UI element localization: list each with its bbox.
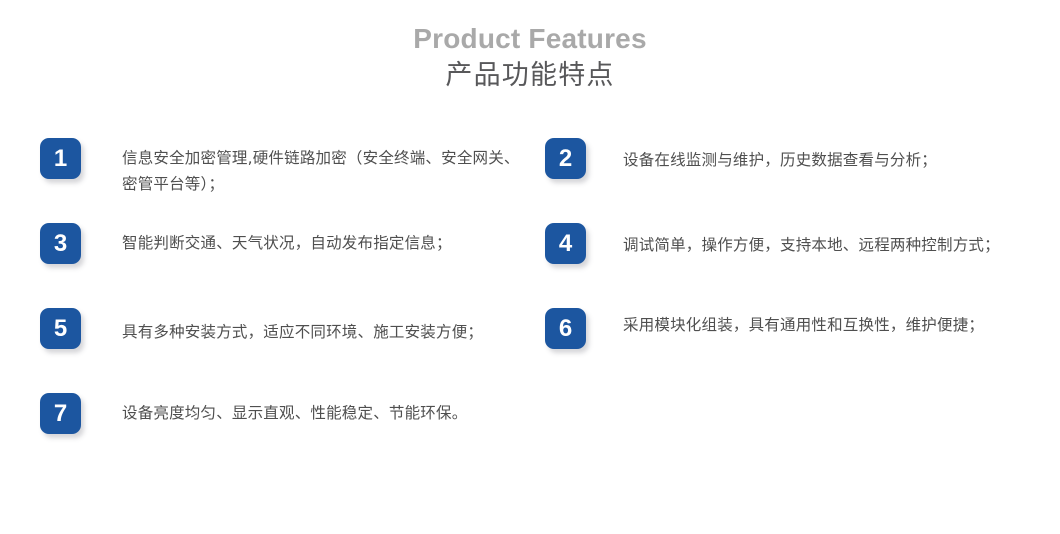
feature-text-2: 设备在线监测与维护，历史数据查看与分析； (623, 138, 1035, 173)
feature-text-7: 设备亮度均匀、显示直观、性能稳定、节能环保。 (122, 393, 520, 426)
page-title-chinese: 产品功能特点 (0, 57, 1060, 93)
feature-number-badge-2: 2 (545, 138, 586, 179)
feature-item-2: 2 设备在线监测与维护，历史数据查看与分析； (545, 138, 1035, 179)
feature-number-badge-6: 6 (545, 308, 586, 349)
feature-number-badge-4: 4 (545, 223, 586, 264)
feature-number-badge-1: 1 (40, 138, 81, 179)
feature-item-7: 7 设备亮度均匀、显示直观、性能稳定、节能环保。 (40, 393, 520, 434)
feature-number-badge-5: 5 (40, 308, 81, 349)
slide-canvas: Product Features 产品功能特点 1 信息安全加密管理,硬件链路加… (0, 0, 1060, 534)
page-title: Product Features 产品功能特点 (0, 22, 1060, 93)
feature-item-4: 4 调试简单，操作方便，支持本地、远程两种控制方式； (545, 223, 1035, 264)
feature-text-1: 信息安全加密管理,硬件链路加密（安全终端、安全网关、密管平台等）； (122, 138, 520, 197)
feature-number-badge-7: 7 (40, 393, 81, 434)
feature-item-3: 3 智能判断交通、天气状况，自动发布指定信息； (40, 223, 520, 264)
feature-text-6: 采用模块化组装，具有通用性和互换性，维护便捷； (623, 308, 1035, 338)
feature-text-3: 智能判断交通、天气状况，自动发布指定信息； (122, 223, 520, 256)
feature-text-5: 具有多种安装方式，适应不同环境、施工安装方便； (122, 308, 520, 345)
page-title-english: Product Features (0, 22, 1060, 56)
feature-item-5: 5 具有多种安装方式，适应不同环境、施工安装方便； (40, 308, 520, 349)
feature-item-6: 6 采用模块化组装，具有通用性和互换性，维护便捷； (545, 308, 1035, 349)
feature-number-badge-3: 3 (40, 223, 81, 264)
feature-text-4: 调试简单，操作方便，支持本地、远程两种控制方式； (623, 223, 1035, 258)
feature-item-1: 1 信息安全加密管理,硬件链路加密（安全终端、安全网关、密管平台等）； (40, 138, 520, 197)
